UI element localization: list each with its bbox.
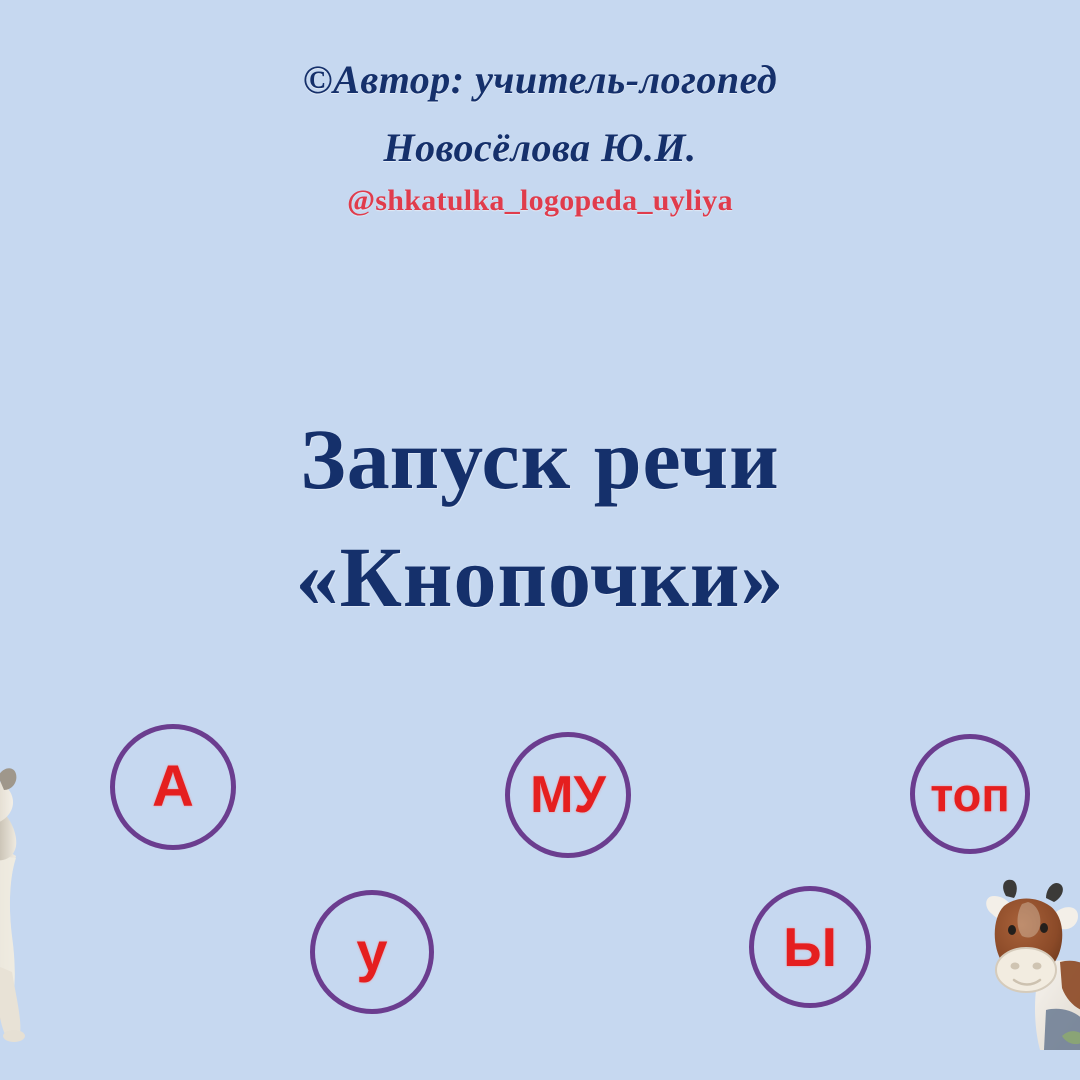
button-y[interactable]: Ы [749, 886, 871, 1008]
button-mu-label: МУ [530, 769, 606, 821]
page-title-line-1: Запуск речи [0, 404, 1080, 514]
button-a[interactable]: А [110, 724, 236, 850]
wolf-howling-illustration [0, 752, 74, 1048]
button-a-label: А [152, 758, 194, 816]
credit-author-name: Новосёлова Ю.И. [0, 124, 1080, 171]
button-mu[interactable]: МУ [505, 732, 631, 858]
credit-social-handle[interactable]: @shkatulka_logopeda_uyliya [0, 184, 1080, 218]
button-top-label: топ [930, 771, 1010, 818]
slide-canvas: ©Автор: учитель-логопед Новосёлова Ю.И. … [0, 0, 1080, 1080]
cow-head-illustration [984, 878, 1080, 1050]
button-u-label: у [356, 924, 387, 980]
button-u[interactable]: у [310, 890, 434, 1014]
credit-author-line: ©Автор: учитель-логопед [0, 56, 1080, 103]
page-title-line-2: «Кнопочки» [0, 522, 1080, 632]
button-top[interactable]: топ [910, 734, 1030, 854]
button-y-label: Ы [783, 920, 837, 975]
